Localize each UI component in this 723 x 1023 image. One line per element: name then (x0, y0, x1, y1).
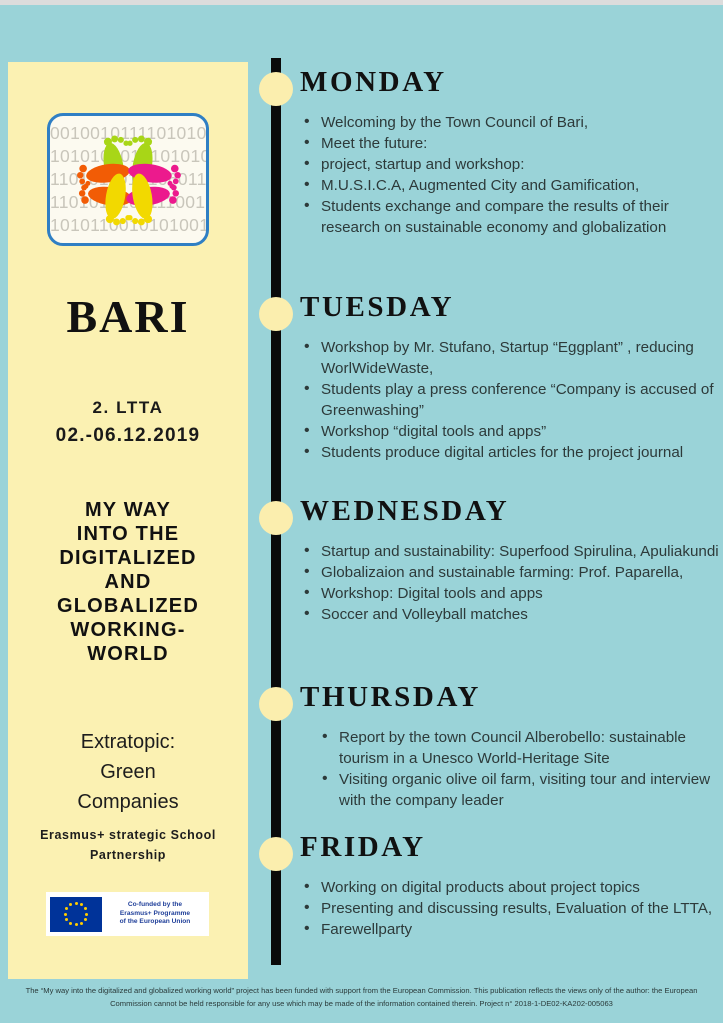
day-block-tuesday: TUESDAYWorkshop by Mr. Stufano, Startup … (300, 291, 723, 463)
day-title: FRIDAY (300, 831, 723, 864)
eu-badge-line: Co-funded by the (105, 901, 205, 910)
project-motto: MY WAYINTO THEDIGITALIZEDANDGLOBALIZEDWO… (20, 498, 236, 666)
eu-star-icon (80, 903, 83, 906)
extratopic-line: Companies (20, 787, 236, 817)
eu-flag-icon (50, 897, 102, 932)
project-motto-line: INTO THE (20, 522, 236, 546)
eu-star-icon (65, 907, 68, 910)
activity-item: Presenting and discussing results, Evalu… (300, 898, 723, 919)
activity-item: Soccer and Volleyball matches (300, 604, 723, 625)
eu-badge-line: of the European Union (105, 918, 205, 927)
activity-item: M.U.S.I.C.A, Augmented City and Gamifica… (300, 175, 723, 196)
activity-item: Globalizaion and sustainable farming: Pr… (300, 562, 723, 583)
partnership-line: Erasmus+ strategic School (14, 825, 242, 845)
my-way-footprints-logo: 0010010111101010101010101010101010011101… (47, 113, 209, 246)
partnership-label: Erasmus+ strategic SchoolPartnership (14, 825, 242, 865)
activity-item: Startup and sustainability: Superfood Sp… (300, 541, 723, 562)
eu-star-icon (75, 923, 78, 926)
day-block-thursday: THURSDAYReport by the town Council Alber… (300, 681, 723, 811)
activity-item: Farewellparty (300, 919, 723, 940)
day-activity-list: Welcoming by the Town Council of Bari,Me… (300, 112, 723, 238)
extratopic-line: Extratopic: (20, 727, 236, 757)
day-block-monday: MONDAYWelcoming by the Town Council of B… (300, 66, 723, 238)
project-motto-line: WORKING- (20, 618, 236, 642)
project-motto-line: MY WAY (20, 498, 236, 522)
eu-badge-line: Erasmus+ Programme (105, 910, 205, 919)
activity-item: Students play a press conference “Compan… (300, 379, 723, 421)
day-title: MONDAY (300, 66, 723, 99)
eu-star-icon (65, 918, 68, 921)
eu-star-icon (69, 903, 72, 906)
activity-item: Workshop “digital tools and apps” (300, 421, 723, 442)
eu-cofunding-badge: Co-funded by theErasmus+ Programmeof the… (46, 892, 209, 936)
day-activity-list: Startup and sustainability: Superfood Sp… (300, 541, 723, 625)
day-activity-list: Working on digital products about projec… (300, 877, 723, 940)
timeline-dot-tuesday (259, 297, 293, 331)
activity-item: Visiting organic olive oil farm, visitin… (318, 769, 723, 811)
eu-star-icon (69, 922, 72, 925)
activity-item: Meet the future: (300, 133, 723, 154)
day-title: WEDNESDAY (300, 495, 723, 528)
top-edge-strip (0, 0, 723, 5)
eu-star-icon (80, 922, 83, 925)
activity-item: Workshop: Digital tools and apps (300, 583, 723, 604)
day-block-friday: FRIDAYWorking on digital products about … (300, 831, 723, 940)
extratopic-block: Extratopic:GreenCompanies (20, 727, 236, 817)
eu-cofunding-text: Co-funded by theErasmus+ Programmeof the… (102, 901, 205, 927)
activity-item: Report by the town Council Alberobello: … (318, 727, 723, 769)
day-activity-list: Report by the town Council Alberobello: … (300, 727, 723, 811)
ltta-number: 2. LTTA (8, 398, 248, 418)
day-activity-list: Workshop by Mr. Stufano, Startup “Eggpla… (300, 337, 723, 463)
eu-star-icon (84, 918, 87, 921)
project-motto-line: GLOBALIZED (20, 594, 236, 618)
project-motto-line: DIGITALIZED (20, 546, 236, 570)
event-dates: 02.-06.12.2019 (8, 425, 248, 447)
poster-canvas: 0010010111101010101010101010101010011101… (0, 0, 723, 1023)
eu-star-icon (84, 907, 87, 910)
day-title: THURSDAY (300, 681, 723, 714)
eu-star-icon (85, 913, 88, 916)
footprints-icon (50, 116, 206, 243)
day-block-wednesday: WEDNESDAYStartup and sustainability: Sup… (300, 495, 723, 625)
project-motto-line: WORLD (20, 642, 236, 666)
activity-item: Students produce digital articles for th… (300, 442, 723, 463)
day-title: TUESDAY (300, 291, 723, 324)
city-title: BARI (8, 290, 248, 343)
left-info-panel: 0010010111101010101010101010101010011101… (8, 62, 248, 979)
timeline-dot-friday (259, 837, 293, 871)
timeline-dot-monday (259, 72, 293, 106)
extratopic-line: Green (20, 757, 236, 787)
activity-item: Welcoming by the Town Council of Bari, (300, 112, 723, 133)
activity-item: Students exchange and compare the result… (300, 196, 723, 238)
activity-item: Working on digital products about projec… (300, 877, 723, 898)
timeline-dot-wednesday (259, 501, 293, 535)
partnership-line: Partnership (14, 845, 242, 865)
activity-item: Workshop by Mr. Stufano, Startup “Eggpla… (300, 337, 723, 379)
eu-star-icon (64, 913, 67, 916)
project-motto-line: AND (20, 570, 236, 594)
activity-item: project, startup and workshop: (300, 154, 723, 175)
eu-star-icon (75, 902, 78, 905)
timeline-dot-thursday (259, 687, 293, 721)
eu-disclaimer-footer: The “My way into the digitalized and glo… (18, 984, 705, 1010)
